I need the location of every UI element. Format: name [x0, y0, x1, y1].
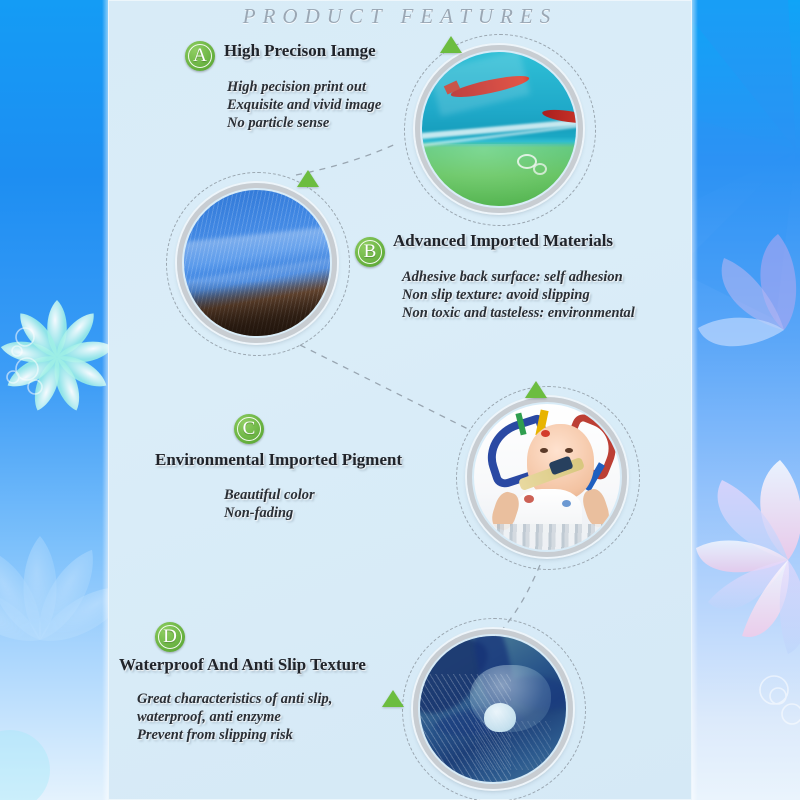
feature-d-heading: Waterproof And Anti Slip Texture	[119, 655, 366, 675]
feature-c-line-2: Non-fading	[224, 504, 315, 522]
photo-a-ring	[415, 45, 583, 213]
arrow-marker-b	[297, 170, 319, 187]
content-panel	[108, 0, 692, 800]
photo-d-ring	[413, 629, 573, 789]
feature-c-body: Beautiful color Non-fading	[224, 486, 315, 522]
arrow-marker-a	[440, 36, 462, 53]
badge-a: A	[185, 41, 215, 71]
feature-d-line-3: Prevent from slipping risk	[137, 726, 332, 744]
arrow-marker-c	[525, 381, 547, 398]
left-decorative-band	[0, 0, 112, 800]
feature-d-line-2: waterproof, anti enzyme	[137, 708, 332, 726]
feature-a-line-2: Exquisite and vivid image	[227, 96, 381, 114]
feature-a-line-1: High pecision print out	[227, 78, 381, 96]
photo-c-baby-painting	[467, 397, 627, 557]
product-features-poster: PRODUCT FEATURES A High Precison Iamge	[0, 0, 800, 800]
arrow-marker-d	[382, 690, 404, 707]
badge-d: D	[155, 622, 185, 652]
badge-b: B	[355, 237, 385, 267]
photo-b-blue-fabric	[177, 183, 337, 343]
feature-b-body: Adhesive back surface: self adhesion Non…	[402, 268, 635, 322]
feature-c-heading: Environmental Imported Pigment	[155, 450, 402, 470]
badge-c: C	[234, 414, 264, 444]
photo-d-water-texture	[413, 629, 573, 789]
feature-b-line-1: Adhesive back surface: self adhesion	[402, 268, 635, 286]
photo-c-ring	[467, 397, 627, 557]
left-flower-pattern-icon	[0, 0, 112, 800]
feature-d-line-1: Great characteristics of anti slip,	[137, 690, 332, 708]
photo-b-ring	[177, 183, 337, 343]
feature-a-line-3: No particle sense	[227, 114, 381, 132]
right-decorative-band	[688, 0, 800, 800]
feature-b-heading: Advanced Imported Materials	[393, 231, 613, 251]
feature-a-heading: High Precison Iamge	[224, 41, 376, 61]
feature-b-line-2: Non slip texture: avoid slipping	[402, 286, 635, 304]
photo-a-fish-pond	[415, 45, 583, 213]
feature-d-body: Great characteristics of anti slip, wate…	[137, 690, 332, 744]
right-flower-pattern-icon	[688, 0, 800, 800]
feature-a-body: High pecision print out Exquisite and vi…	[227, 78, 381, 132]
feature-b-line-3: Non toxic and tasteless: environmental	[402, 304, 635, 322]
feature-c-line-1: Beautiful color	[224, 486, 315, 504]
page-title: PRODUCT FEATURES	[0, 4, 800, 29]
